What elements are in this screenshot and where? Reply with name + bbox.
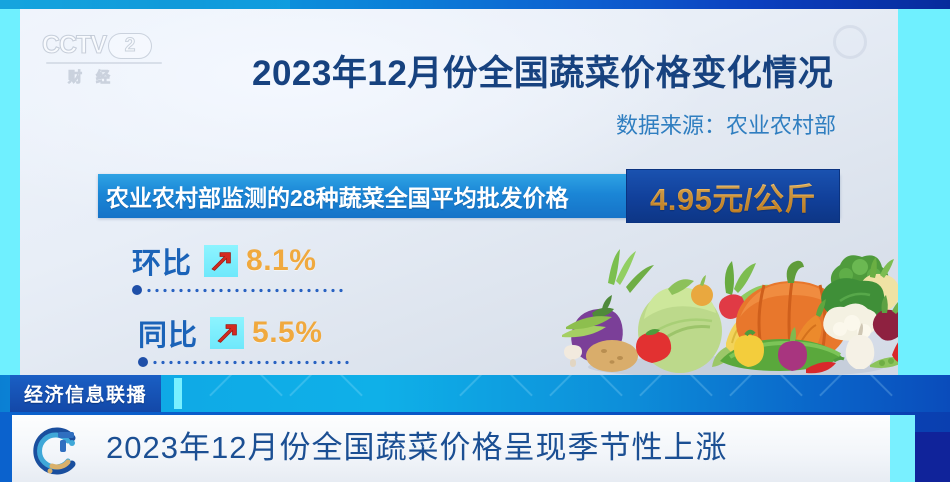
up-arrow-icon: [204, 245, 238, 277]
ticker-headline: 2023年12月份全国蔬菜价格呈现季节性上涨: [106, 426, 727, 470]
program-banner: 经济信息联播: [0, 375, 950, 412]
dotted-rule: [145, 288, 347, 293]
program-name-tab: 经济信息联播: [10, 375, 161, 412]
stat-underline-yoy: [138, 357, 353, 367]
average-price-value-box: 4.95元/公斤: [626, 169, 840, 223]
stat-label-yoy: 同比: [138, 312, 198, 354]
bullet-dot: [138, 357, 148, 367]
news-ticker: 2023年12月份全国蔬菜价格呈现季节性上涨: [0, 412, 950, 482]
ticker-cyan-strip: [890, 415, 915, 482]
stat-value-mom: 8.1%: [246, 244, 316, 278]
left-cyan-band: [0, 9, 20, 375]
program-circle-logo-icon: [28, 426, 86, 476]
average-price-value: 4.95元/公斤: [650, 174, 816, 219]
up-arrow-icon: [210, 317, 244, 349]
data-source-label: 数据来源：农业农村部: [616, 108, 836, 140]
cctv-channel-number: 2: [108, 33, 152, 59]
stat-label-mom: 环比: [132, 240, 192, 282]
stat-underline-mom: [132, 285, 347, 295]
ticker-navy-block: [915, 432, 950, 482]
dotted-rule: [151, 360, 353, 365]
stat-value-yoy: 5.5%: [252, 316, 322, 350]
cctv-logo-subtitle: 财经: [68, 67, 192, 87]
program-tab-accent: [174, 378, 182, 409]
page-title: 2023年12月份全国蔬菜价格变化情况: [252, 45, 833, 96]
main-panel: CCTV 2 财经 2023年12月份全国蔬菜价格变化情况 数据来源：农业农村部…: [20, 9, 898, 375]
cctv-logo-text: CCTV: [42, 31, 106, 60]
stat-row-mom: 环比 8.1%: [132, 240, 347, 298]
bullet-dot: [132, 285, 142, 295]
right-cyan-band: [898, 9, 950, 375]
average-price-label: 农业农村部监测的28种蔬菜全国平均批发价格: [98, 174, 626, 218]
broadcast-graphic: CCTV 2 财经 2023年12月份全国蔬菜价格变化情况 数据来源：农业农村部…: [0, 0, 950, 482]
vegetables-illustration: [540, 231, 898, 375]
average-price-bar: 农业农村部监测的28种蔬菜全国平均批发价格 4.95元/公斤: [98, 174, 840, 218]
cctv-logo-underline: [46, 62, 162, 64]
top-gradient-strip: [0, 0, 950, 9]
cctv2-logo: CCTV 2 财经: [42, 31, 192, 87]
stat-row-yoy: 同比 5.5%: [138, 312, 353, 370]
watermark-ring-icon: [833, 25, 867, 59]
